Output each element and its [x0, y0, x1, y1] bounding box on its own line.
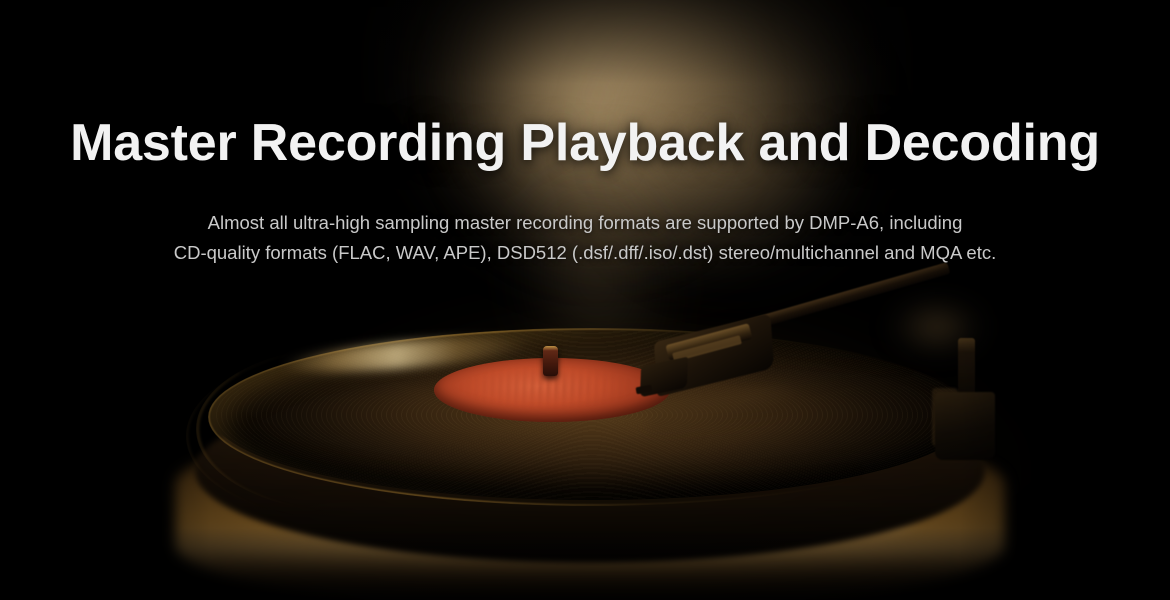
banner-subtitle-line-2: CD-quality formats (FLAC, WAV, APE), DSD…	[0, 238, 1170, 268]
master-recording-hero-banner: Master Recording Playback and Decoding A…	[0, 0, 1170, 600]
turntable-spindle	[543, 346, 558, 376]
turntable-assembly	[0, 300, 1170, 600]
tonearm-rest-base	[935, 392, 995, 460]
turntable-photo-background	[0, 0, 1170, 600]
banner-subtitle-line-1: Almost all ultra-high sampling master re…	[0, 208, 1170, 238]
background-blurred-object	[878, 292, 996, 362]
banner-headline: Master Recording Playback and Decoding	[0, 113, 1170, 173]
